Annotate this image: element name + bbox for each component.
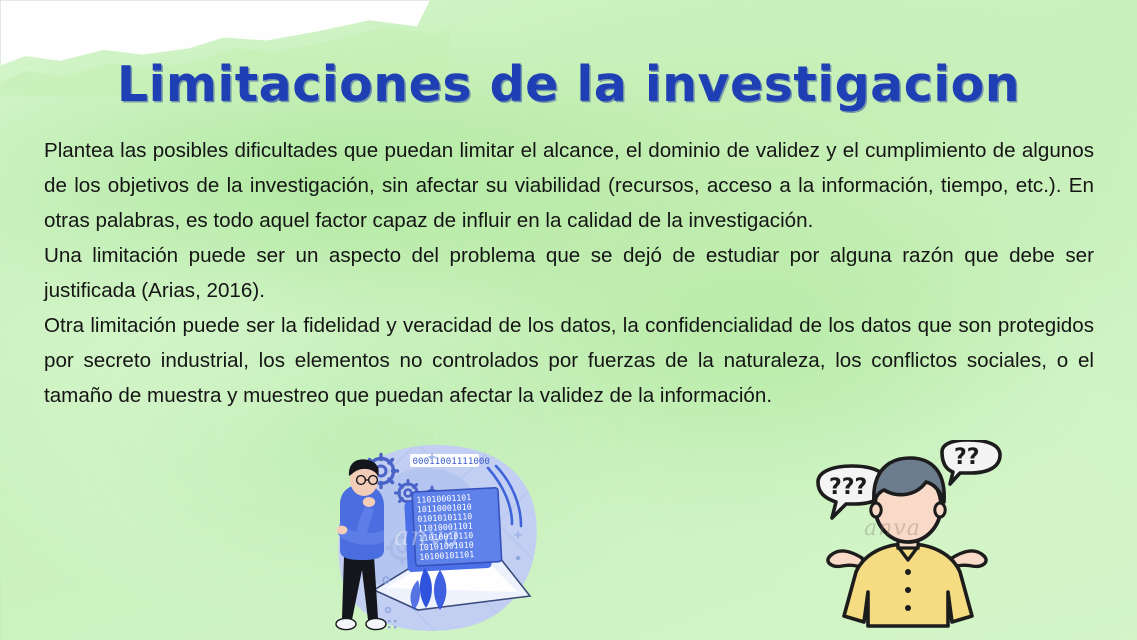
binary-screen-text: 11010001101 10110001010 01010101110 1101… — [416, 492, 474, 562]
illustration-thinking-person-laptop: 00011001111000 11010001101 10110001010 — [322, 438, 544, 640]
binary-badge-text: 00011001111000 — [413, 456, 490, 467]
speech-bubble-right-text: ?? — [954, 445, 980, 470]
paragraph-3: Otra limitación puede ser la fidelidad y… — [44, 308, 1094, 413]
speech-bubble-left-text: ??? — [829, 475, 867, 500]
laptop-screen: 11010001101 10110001010 01010101110 1101… — [412, 488, 502, 566]
slide-title: Limitaciones de la investigacion — [0, 56, 1137, 113]
illustration-confused-person: ?? ??? — [802, 440, 1020, 640]
slide-body-text: Plantea las posibles dificultades que pu… — [44, 133, 1094, 413]
binary-badge: 00011001111000 — [410, 454, 490, 467]
ear-left — [871, 503, 881, 517]
paragraph-2: Una limitación puede ser un aspecto del … — [44, 238, 1094, 308]
presentation-slide: Limitaciones de la investigacion Plantea… — [0, 0, 1137, 640]
speech-bubble-right: ?? — [942, 440, 1000, 484]
paragraph-1: Plantea las posibles dificultades que pu… — [44, 133, 1094, 238]
ear-right — [935, 503, 945, 517]
